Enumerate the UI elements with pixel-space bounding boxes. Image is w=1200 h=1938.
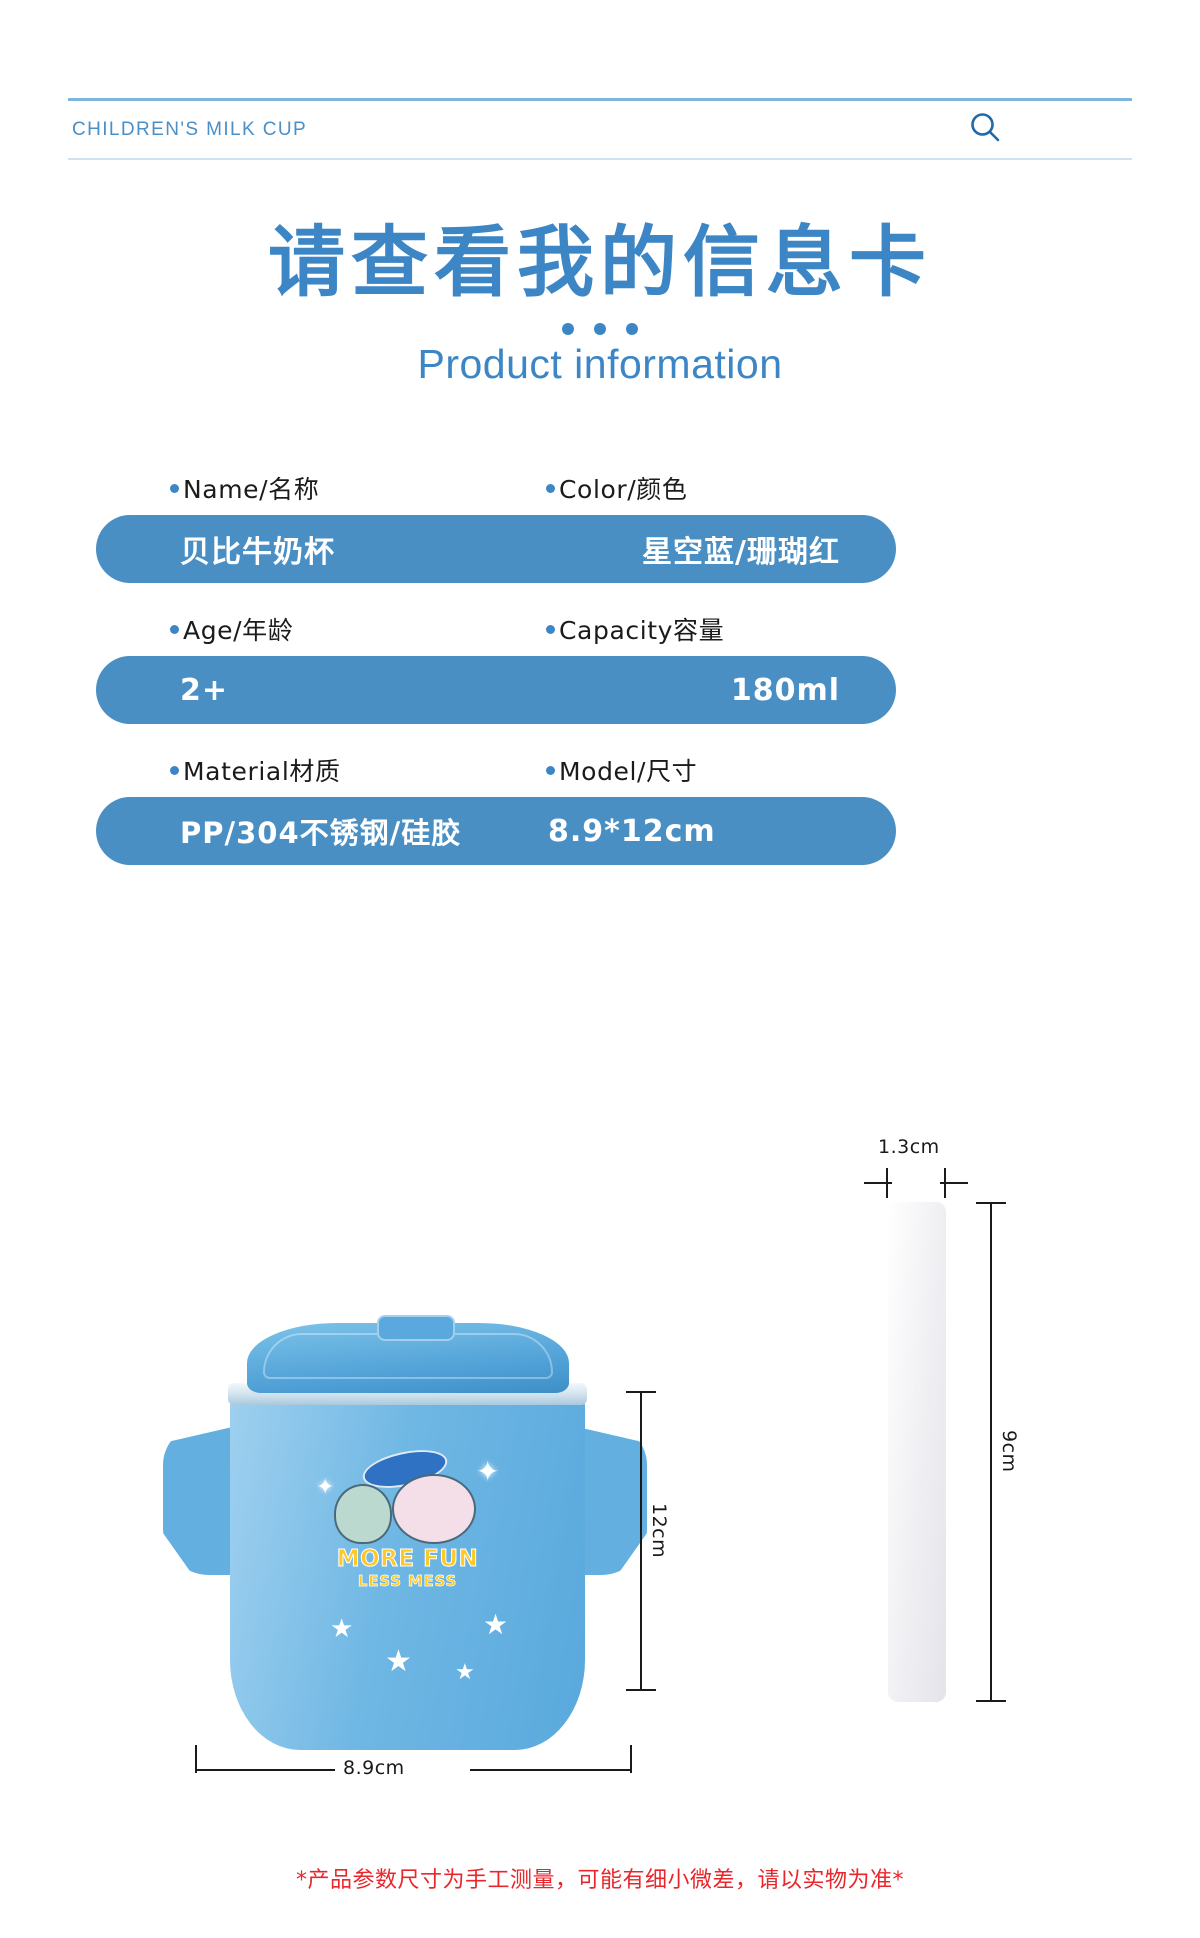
spec-value-pill: PP/304不锈钢/硅胶 8.9*12cm [96,797,896,865]
badge-line-1: MORE FUN [300,1546,515,1572]
product-diagram: ✦ ✦ MORE FUN LESS MESS ★ ★ ★ ★ 12cm 8.9c… [0,1130,1200,1810]
spec-label-row: Name/名称 Color/颜色 [96,470,896,515]
straw-height-label: 9cm [998,1430,1020,1473]
straw-illustration: 1.3cm 9cm [700,1130,1120,1810]
spec-label-row: Age/年龄 Capacity容量 [96,611,896,656]
separator-dot [626,323,638,335]
straw-body [888,1202,946,1702]
star-decoration: ★ [455,1661,475,1683]
spec-label-text: Material材质 [183,752,341,788]
spec-label-name: Name/名称 [96,470,526,506]
bullet-icon [546,625,555,634]
straw-width-line-a [864,1182,892,1184]
spec-label-capacity: Capacity容量 [526,611,896,647]
cup-height-label: 12cm [648,1503,670,1558]
straw-width-label: 1.3cm [878,1136,940,1158]
search-icon [968,110,1002,149]
spec-value-pill: 2+ 180ml [96,656,896,724]
bullet-icon [546,766,555,775]
cup-height-tick-bottom [626,1689,656,1691]
star-decoration: ★ [330,1615,353,1641]
spec-value-color: 星空蓝/珊瑚红 [526,527,896,571]
bullet-icon [170,625,179,634]
search-button[interactable] [968,110,1002,149]
spec-row-age-capacity: Age/年龄 Capacity容量 2+ 180ml [96,611,896,724]
spec-label-age: Age/年龄 [96,611,526,647]
cup-height-tick-top [626,1391,656,1393]
spec-label-text: Capacity容量 [559,611,724,647]
bullet-icon [546,484,555,493]
spec-table: Name/名称 Color/颜色 贝比牛奶杯 星空蓝/珊瑚红 Age/年龄 Ca… [96,470,896,893]
spec-value-age: 2+ [96,673,526,708]
spec-row-name-color: Name/名称 Color/颜色 贝比牛奶杯 星空蓝/珊瑚红 [96,470,896,583]
bullet-icon [170,766,179,775]
page-header: CHILDREN'S MILK CUP [68,98,1132,160]
straw-height-tick-bottom [976,1700,1006,1702]
spec-label-text: Name/名称 [183,470,319,506]
spec-value-pill: 贝比牛奶杯 星空蓝/珊瑚红 [96,515,896,583]
straw-width-line-b [940,1182,968,1184]
spec-label-row: Material材质 Model/尺寸 [96,752,896,797]
spec-label-text: Color/颜色 [559,470,688,506]
header-title: CHILDREN'S MILK CUP [68,119,307,141]
cup-lid-tab[interactable] [377,1315,455,1341]
star-decoration: ★ [483,1611,508,1639]
alien-pink-icon [392,1474,476,1544]
disclaimer-text: *产品参数尺寸为手工测量，可能有细小微差，请以实物为准* [0,1862,1200,1894]
spec-value-capacity: 180ml [526,673,896,708]
spec-value-model: 8.9*12cm [526,814,896,849]
spec-label-material: Material材质 [96,752,526,788]
cup-width-line-a [195,1769,335,1771]
spec-label-text: Age/年龄 [183,611,293,647]
spec-label-text: Model/尺寸 [559,752,697,788]
straw-height-tick-top [976,1202,1006,1204]
cup-illustration: ✦ ✦ MORE FUN LESS MESS ★ ★ ★ ★ 12cm 8.9c… [95,1275,715,1855]
cup-width-line-b [470,1769,632,1771]
sparkle-icon: ✦ [476,1458,499,1486]
cup-width-label: 8.9cm [343,1757,405,1779]
sparkle-icon: ✦ [316,1476,334,1498]
straw-height-line [990,1202,992,1702]
cup-graphic-badge: ✦ ✦ MORE FUN LESS MESS [300,1450,515,1590]
spec-label-model: Model/尺寸 [526,752,896,788]
page-subtitle: Product information [0,341,1200,388]
dot-separator [0,323,1200,335]
spec-label-color: Color/颜色 [526,470,896,506]
spec-value-name: 贝比牛奶杯 [96,527,526,571]
alien-artwork: ✦ ✦ [300,1450,515,1546]
badge-line-2: LESS MESS [300,1572,515,1590]
bullet-icon [170,484,179,493]
page-title: 请查看我的信息卡 [0,222,1200,305]
separator-dot [594,323,606,335]
spec-row-material-model: Material材质 Model/尺寸 PP/304不锈钢/硅胶 8.9*12c… [96,752,896,865]
cup-height-line [640,1391,642,1691]
hero-section: 请查看我的信息卡 Product information [0,222,1200,388]
star-decoration: ★ [385,1647,412,1677]
separator-dot [562,323,574,335]
spec-value-material: PP/304不锈钢/硅胶 [96,810,526,852]
alien-green-icon [334,1484,392,1544]
